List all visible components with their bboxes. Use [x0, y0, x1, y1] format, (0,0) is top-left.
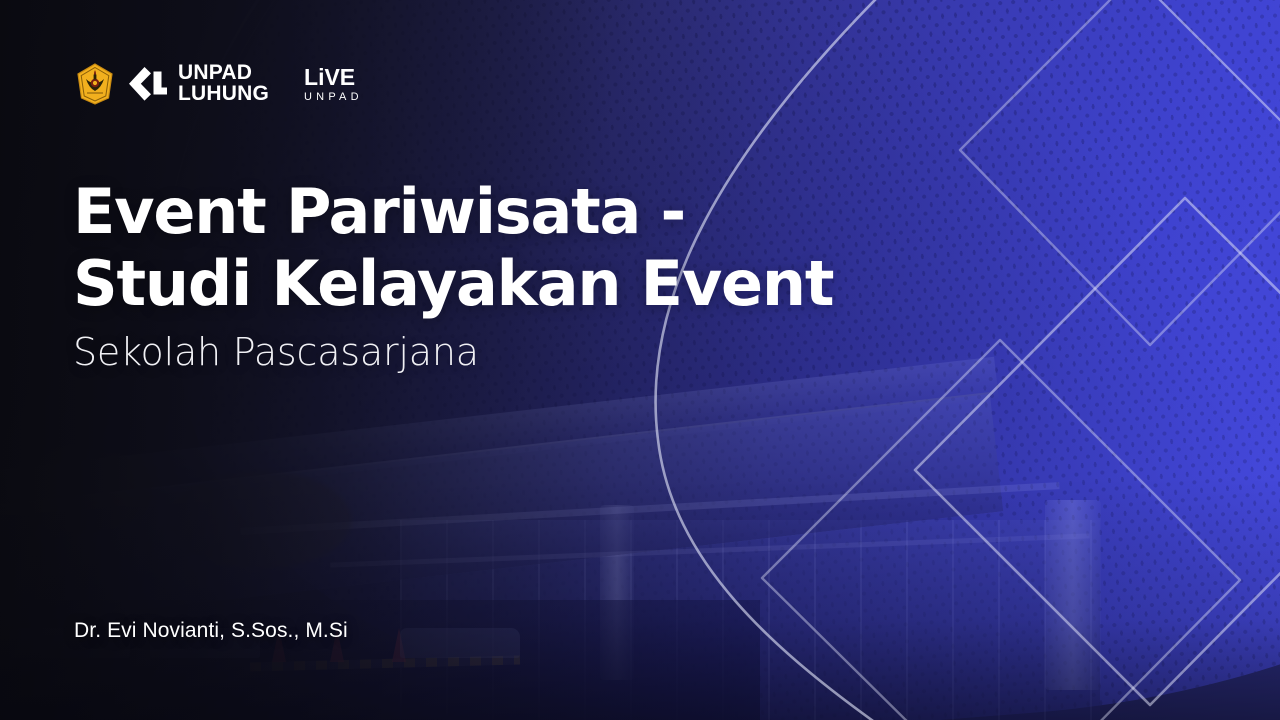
diamond-outline-upper — [960, 0, 1280, 345]
live-unpad-wordmark: LiVE UNPAD — [292, 66, 363, 103]
presentation-title-slide: UNPAD LUHUNG LiVE UNPAD Event Pariwisata… — [0, 0, 1280, 720]
live-word: LiVE — [304, 66, 355, 89]
page-title: Event Pariwisata -Studi Kelayakan Event — [73, 176, 953, 320]
page-subtitle: Sekolah Pascasarjana — [73, 330, 953, 376]
title-line-2: Studi Kelayakan Event — [73, 248, 953, 320]
logo-lockup[interactable]: UNPAD LUHUNG LiVE UNPAD — [74, 63, 363, 105]
title-line-1: Event Pariwisata - — [73, 175, 685, 248]
live-sub-unpad: UNPAD — [304, 92, 363, 103]
diamond-outline-lower — [762, 340, 1240, 720]
presenter-name: Dr. Evi Novianti, S.Sos., M.Si — [74, 619, 348, 643]
unpad-luhung-wordmark: UNPAD LUHUNG — [178, 63, 269, 104]
diamond-outline-center — [915, 198, 1280, 705]
wordmark-line-luhung: LUHUNG — [178, 84, 269, 105]
wordmark-line-unpad: UNPAD — [178, 63, 269, 84]
unpad-crest-icon — [74, 63, 116, 105]
diagonal-ray-line — [1120, 0, 1280, 170]
unpad-luhung-chevron-icon — [129, 67, 167, 101]
headline-block: Event Pariwisata -Studi Kelayakan Event … — [73, 176, 953, 375]
